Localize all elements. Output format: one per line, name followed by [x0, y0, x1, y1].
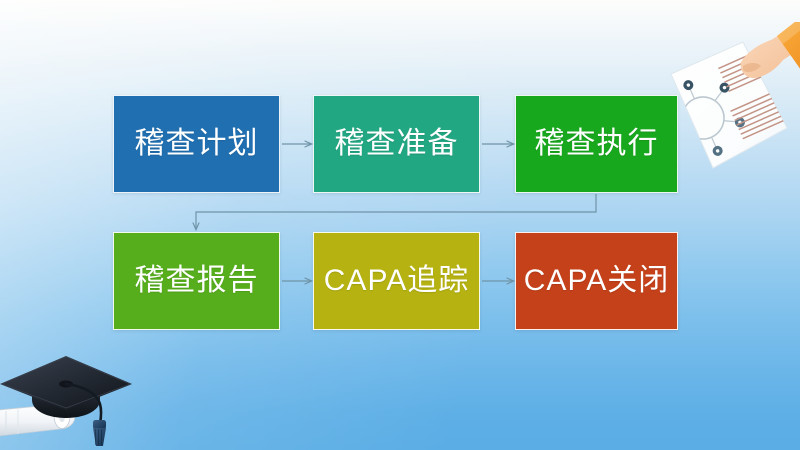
flow-box-execute[interactable]: 稽查执行: [515, 95, 678, 193]
flow-box-prepare[interactable]: 稽查准备: [313, 95, 480, 193]
flow-box-capa-close[interactable]: CAPA关闭: [515, 232, 678, 330]
slide-canvas: 稽查计划 稽查准备 稽查执行 稽查报告 CAPA追踪 CAPA关闭: [0, 0, 800, 450]
flow-box-capa-close-label: CAPA关闭: [524, 266, 669, 296]
graduation-cap-icon: [0, 348, 136, 450]
flow-box-capa-track[interactable]: CAPA追踪: [313, 232, 480, 330]
flow-box-plan[interactable]: 稽查计划: [113, 95, 280, 193]
flow-box-prepare-label: 稽查准备: [335, 129, 459, 159]
flow-box-report-label: 稽查报告: [135, 266, 259, 296]
flow-box-plan-label: 稽查计划: [135, 129, 259, 159]
flow-box-execute-label: 稽查执行: [535, 129, 659, 159]
hand-holding-tablet-icon: [655, 22, 800, 192]
connector-execute-to-report: [196, 194, 596, 229]
flow-box-capa-track-label: CAPA追踪: [324, 266, 469, 296]
page-title: 稽查流程图: [0, 21, 1, 22]
flow-box-report[interactable]: 稽查报告: [113, 232, 280, 330]
